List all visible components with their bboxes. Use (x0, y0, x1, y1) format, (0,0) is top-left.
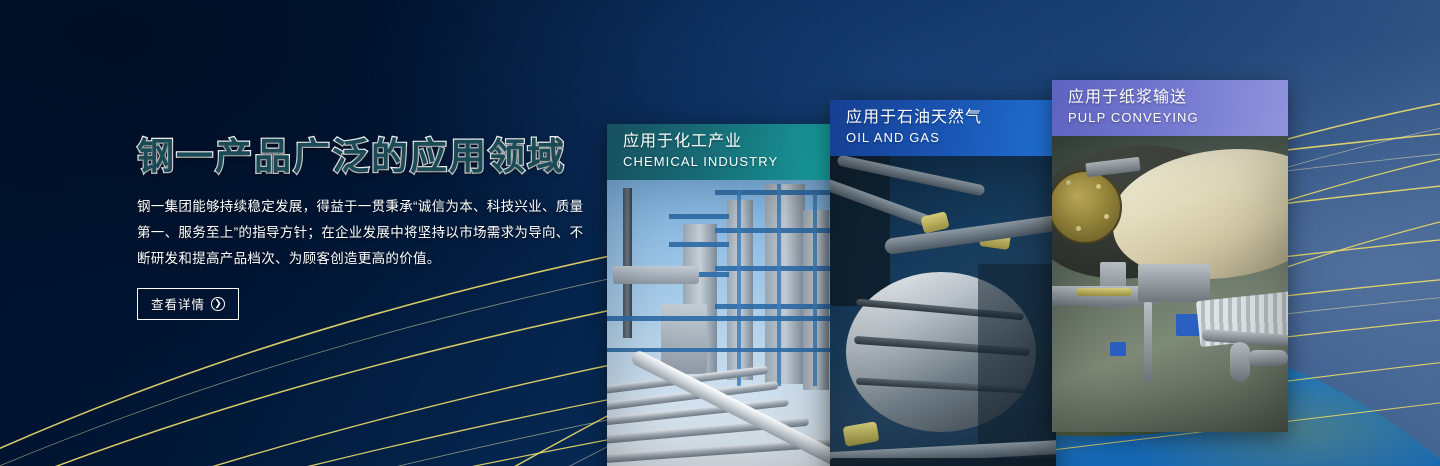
panel-photo-oilgas (830, 156, 1056, 466)
page-title: 钢一产品广泛的应用领域 (137, 136, 607, 177)
panel-title-en: OIL AND GAS (846, 129, 1056, 147)
panel-title-cn: 应用于石油天然气 (846, 107, 1056, 129)
banner-copy-block: 钢一产品广泛的应用领域 钢一集团能够持续稳定发展，得益于一贯秉承“诚信为本、科技… (137, 136, 607, 320)
panel-title-cn: 应用于化工产业 (623, 131, 833, 153)
panel-oil-and-gas[interactable]: 应用于石油天然气 OIL AND GAS (830, 100, 1056, 466)
panel-header-pulp: 应用于纸浆输送 PULP CONVEYING (1052, 80, 1288, 136)
view-details-label: 查看详情 (151, 294, 205, 313)
view-details-button[interactable]: 查看详情 ❯ (137, 288, 239, 320)
panel-header-chemical: 应用于化工产业 CHEMICAL INDUSTRY (607, 124, 833, 180)
panel-photo-chemical (607, 180, 833, 466)
panel-title-cn: 应用于纸浆输送 (1068, 87, 1288, 109)
chevron-right-icon: ❯ (211, 297, 225, 311)
panel-pulp-conveying[interactable]: 应用于纸浆输送 PULP CONVEYING (1052, 80, 1288, 432)
application-fields-banner: 钢一产品广泛的应用领域 钢一集团能够持续稳定发展，得益于一贯秉承“诚信为本、科技… (0, 0, 1440, 466)
panel-photo-pulp (1052, 136, 1288, 432)
panel-header-oilgas: 应用于石油天然气 OIL AND GAS (830, 100, 1056, 156)
panel-title-en: CHEMICAL INDUSTRY (623, 153, 833, 171)
panel-chemical-industry[interactable]: 应用于化工产业 CHEMICAL INDUSTRY (607, 124, 833, 466)
panel-title-en: PULP CONVEYING (1068, 109, 1288, 127)
banner-description: 钢一集团能够持续稳定发展，得益于一贯秉承“诚信为本、科技兴业、质量第一、服务至上… (137, 194, 585, 272)
